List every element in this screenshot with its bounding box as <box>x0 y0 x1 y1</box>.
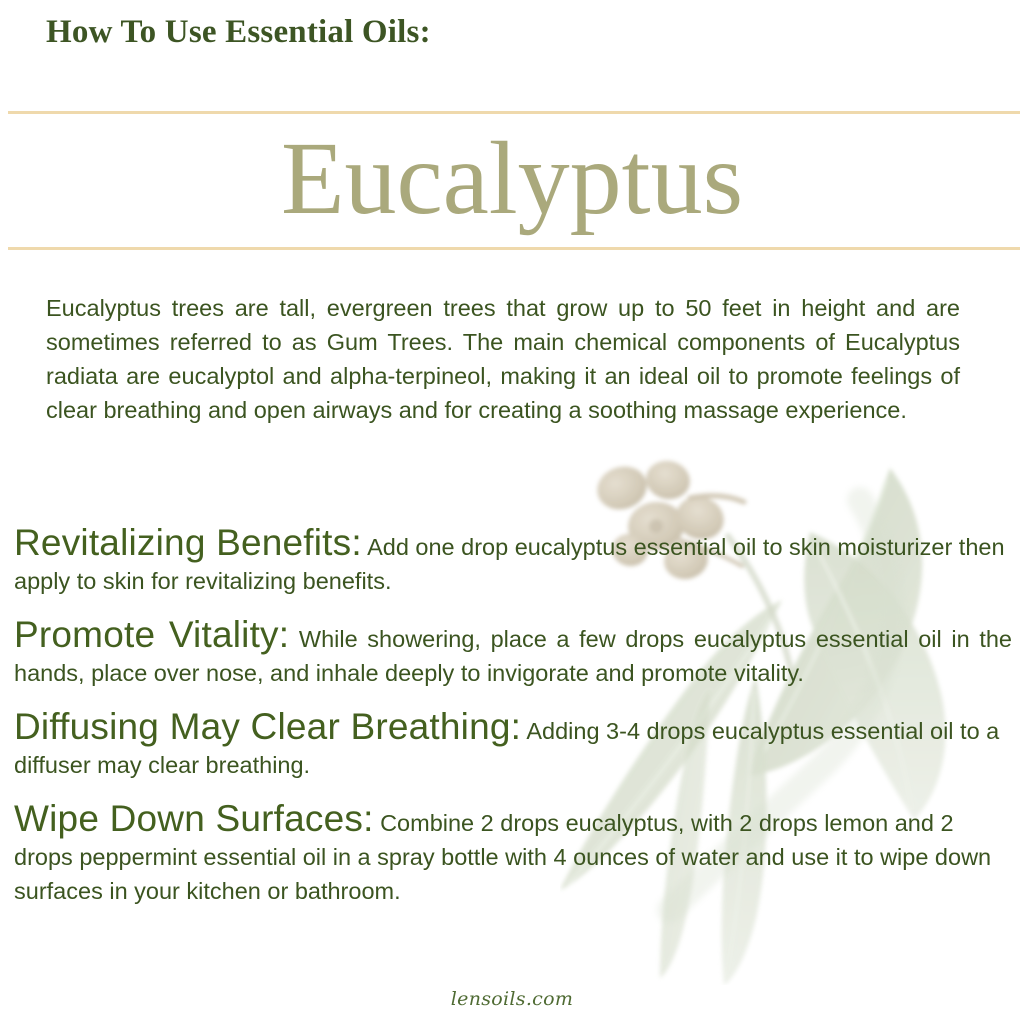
benefit-heading: Diffusing May Clear Breathing: <box>14 706 521 747</box>
page-title: Eucalyptus <box>0 120 1024 238</box>
site-credit: lensoils.com <box>0 988 1024 1010</box>
infographic-page: How To Use Essential Oils: Eucalyptus Eu… <box>0 0 1024 1024</box>
benefit-section: Promote Vitality: While showering, place… <box>14 616 1014 690</box>
divider-bottom <box>8 247 1020 250</box>
benefit-section: Diffusing May Clear Breathing: Adding 3-… <box>14 708 1014 782</box>
benefit-heading: Promote Vitality: <box>14 614 289 655</box>
page-kicker: How To Use Essential Oils: <box>46 14 431 51</box>
benefit-body: Promote Vitality: While showering, place… <box>14 616 1012 690</box>
intro-paragraph: Eucalyptus trees are tall, evergreen tre… <box>46 291 960 427</box>
benefit-heading: Revitalizing Benefits: <box>14 522 362 563</box>
benefit-section: Wipe Down Surfaces: Combine 2 drops euca… <box>14 800 1014 908</box>
benefit-section: Revitalizing Benefits: Add one drop euca… <box>14 524 1014 598</box>
benefit-body: Wipe Down Surfaces: Combine 2 drops euca… <box>14 800 1014 908</box>
benefit-heading: Wipe Down Surfaces: <box>14 798 374 839</box>
divider-top <box>8 111 1020 114</box>
benefit-body: Revitalizing Benefits: Add one drop euca… <box>14 524 1014 598</box>
benefit-body: Diffusing May Clear Breathing: Adding 3-… <box>14 708 1014 782</box>
benefit-sections: Revitalizing Benefits: Add one drop euca… <box>14 524 1014 908</box>
